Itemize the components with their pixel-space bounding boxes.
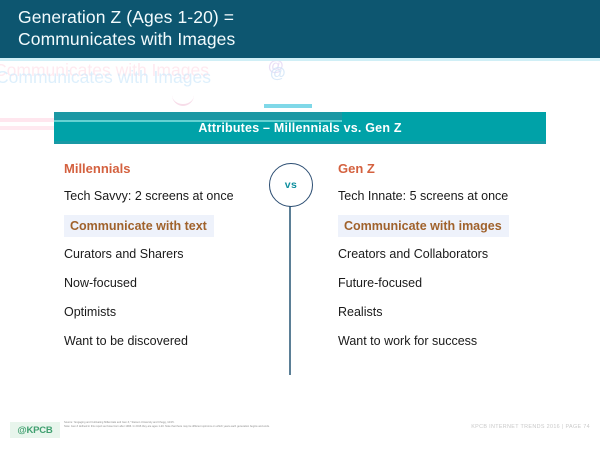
genz-row-1-highlight: Communicate with images (338, 215, 509, 237)
list-item: Optimists (64, 302, 292, 331)
banner-title: Attributes – Millennials vs. Gen Z (198, 121, 401, 135)
genz-row-4: Realists (338, 302, 566, 331)
source-note-line-2: Note: Gen Z defined in this report as th… (64, 425, 414, 429)
list-item: Want to work for success (338, 331, 566, 360)
header-divider-rule (0, 58, 600, 61)
list-item: Communicate with text (64, 215, 292, 244)
kpcb-logo: @KPCB (10, 422, 60, 438)
ghost-title-artifact-b: Communicates with Images (0, 67, 211, 88)
genz-row-5: Want to work for success (338, 331, 566, 360)
list-item: Tech Savvy: 2 screens at once (64, 186, 292, 215)
vs-badge: vs (269, 163, 313, 207)
list-item: Creators and Collaborators (338, 244, 566, 273)
slide-footer: @KPCB Source: “Engaging and Cultivating … (0, 412, 600, 450)
vs-badge-label: vs (285, 179, 297, 191)
millennials-row-0: Tech Savvy: 2 screens at once (64, 186, 292, 215)
millennials-row-5: Want to be discovered (64, 331, 292, 360)
ghost-logo-artifact-b: @ (270, 65, 286, 83)
column-divider-line (289, 203, 291, 375)
column-heading-genz: Gen Z (338, 160, 566, 186)
millennials-row-1-highlight: Communicate with text (64, 215, 214, 237)
banner-left-bleed-artifact-a (0, 118, 54, 122)
ghost-title-artifact-a: Communicates with Images (0, 60, 209, 81)
slide-header: Generation Z (Ages 1-20) = Communicates … (0, 0, 600, 58)
list-item: Want to be discovered (64, 331, 292, 360)
page-title: Generation Z (Ages 1-20) = Communicates … (18, 7, 538, 50)
genz-row-0: Tech Innate: 5 screens at once (338, 186, 566, 215)
banner-top-tab-artifact (264, 104, 312, 108)
genz-row-3: Future-focused (338, 273, 566, 302)
ghost-arc-artifact (172, 94, 194, 106)
millennials-row-2: Curators and Sharers (64, 244, 292, 273)
list-item: Future-focused (338, 273, 566, 302)
millennials-row-4: Optimists (64, 302, 292, 331)
list-item: Curators and Sharers (64, 244, 292, 273)
column-genz: Gen Z Tech Innate: 5 screens at once Com… (338, 160, 566, 360)
source-note: Source: “Engaging and Cultivating Millen… (64, 421, 414, 428)
list-item: Now-focused (64, 273, 292, 302)
footer-page-label: KPCB INTERNET TRENDS 2016 | PAGE 74 (471, 424, 590, 430)
list-item: Realists (338, 302, 566, 331)
millennials-row-3: Now-focused (64, 273, 292, 302)
genz-row-2: Creators and Collaborators (338, 244, 566, 273)
list-item: Communicate with images (338, 215, 566, 244)
banner-shade-top (54, 112, 342, 120)
attributes-banner: Attributes – Millennials vs. Gen Z (54, 112, 546, 144)
banner-shade-bottom (54, 141, 546, 144)
banner-left-bleed-artifact-b (0, 126, 54, 130)
slide-root: Generation Z (Ages 1-20) = Communicates … (0, 0, 600, 450)
column-heading-millennials: Millennials (64, 160, 292, 186)
list-item: Tech Innate: 5 screens at once (338, 186, 566, 215)
column-millennials: Millennials Tech Savvy: 2 screens at onc… (64, 160, 292, 360)
